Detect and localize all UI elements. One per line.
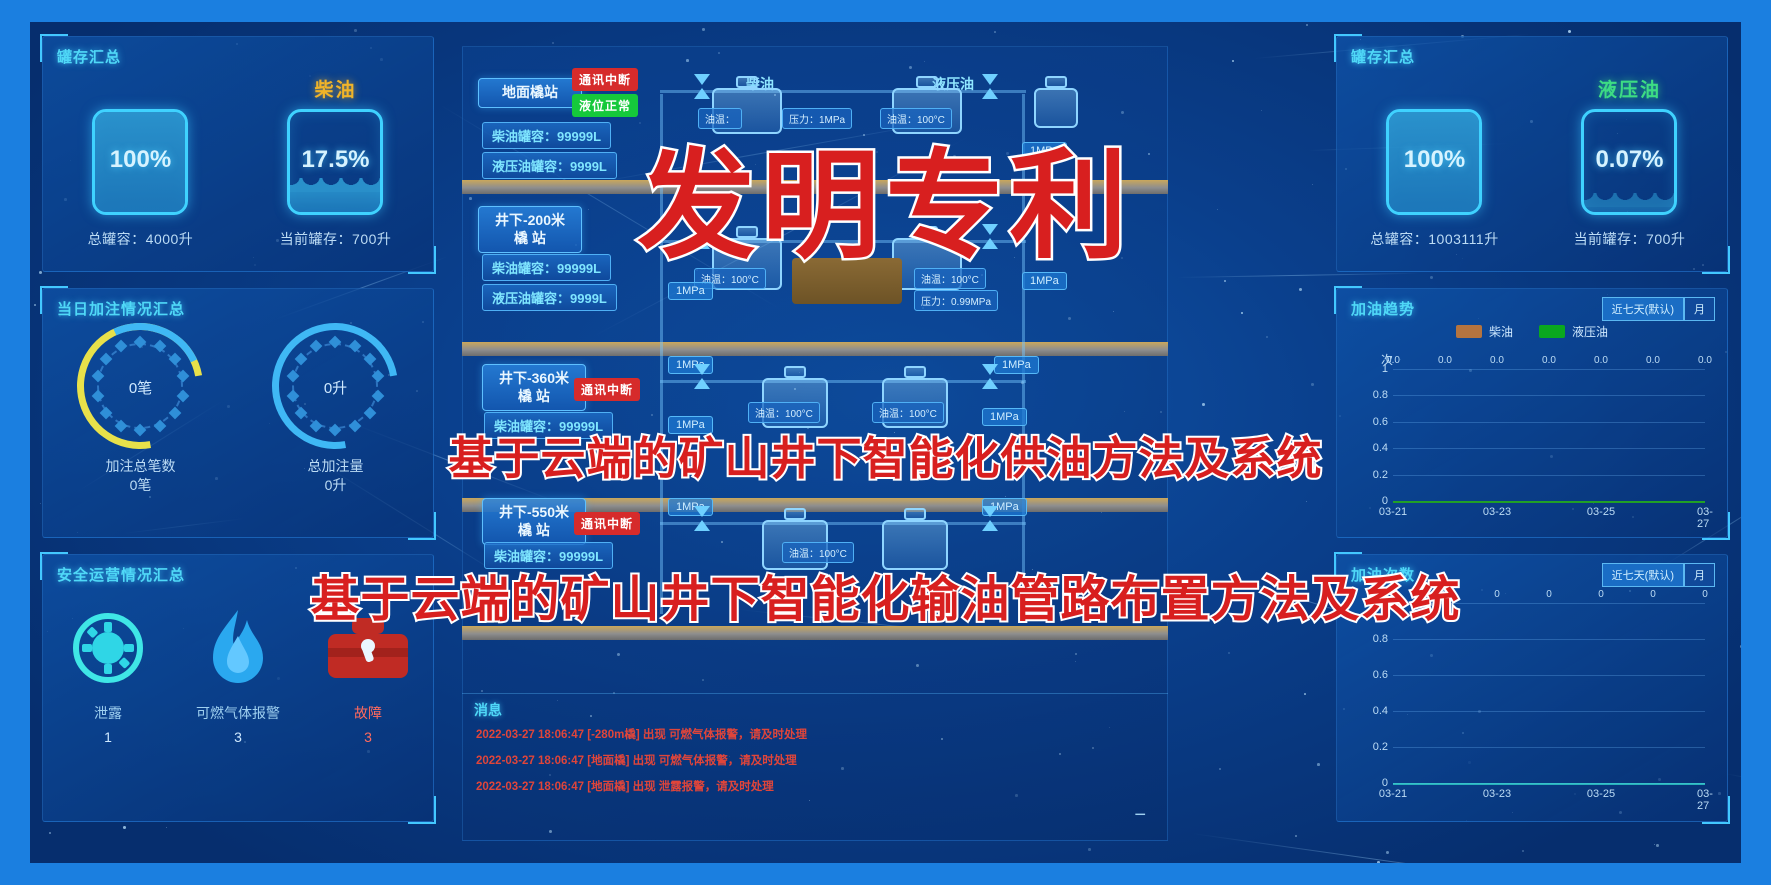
tank-gauge-current: 柴油 17.5% 当前罐存：700升 bbox=[246, 75, 425, 249]
panel-safety-summary: 安全运营情况汇总 bbox=[42, 554, 434, 822]
tank-capacity-tag: 液压油罐容：9999L bbox=[482, 152, 617, 179]
x-axis-tick: 03-23 bbox=[1483, 506, 1511, 518]
data-point-label: 0.0 bbox=[1646, 355, 1660, 366]
tank-gauge-row: · 100% 总罐容：1003111升 液压油 0.07% 当前罐存：700升 bbox=[1337, 75, 1727, 249]
toolbox-icon bbox=[310, 605, 427, 691]
station-label-surface[interactable]: 地面橇站 bbox=[478, 78, 582, 108]
data-point-label: 0.0 bbox=[1594, 355, 1608, 366]
legend-item-hydraulic: 液压油 bbox=[1539, 323, 1608, 340]
flame-icon bbox=[180, 605, 297, 691]
legend-swatch bbox=[1456, 325, 1482, 338]
y-axis-tick: 0.4 bbox=[1373, 705, 1388, 717]
strata-band bbox=[462, 180, 1168, 194]
panel-tank-summary-hydraulic: 罐存汇总 · 100% 总罐容：1003111升 液压油 0.07% 当前罐存：… bbox=[1336, 36, 1728, 272]
safety-item-row: 泄露 1 可燃气体报警 3 bbox=[43, 595, 433, 745]
tank-capacity-tag: 柴油罐容：99999L bbox=[482, 122, 611, 149]
x-axis-tick: 03-21 bbox=[1379, 788, 1407, 800]
data-point-label: 0.0 bbox=[1698, 355, 1712, 366]
legend-swatch bbox=[1539, 325, 1565, 338]
y-axis-tick: 0.2 bbox=[1373, 469, 1388, 481]
data-point-label: 0.0 bbox=[1438, 355, 1452, 366]
tank-capacity-tag: 柴油罐容：99999L bbox=[482, 254, 611, 281]
panel-tank-summary-diesel: 罐存汇总 · 100% 总罐容：4000升 柴油 17.5% 当前罐存：700升 bbox=[42, 36, 434, 272]
tank-caption: 当前罐存：700升 bbox=[1540, 229, 1719, 249]
legend-item-diesel: 柴油 bbox=[1456, 323, 1513, 340]
dashboard-screen: 罐存汇总 · 100% 总罐容：4000升 柴油 17.5% 当前罐存：700升 bbox=[30, 22, 1741, 863]
ring-label: 总加注量 0升 bbox=[246, 457, 425, 495]
tank-gauge-total: · 100% 总罐容：4000升 bbox=[51, 75, 230, 249]
panel-title: 罐存汇总 bbox=[1351, 46, 1415, 67]
tank-capacity-tag: 柴油罐容：99999L bbox=[484, 412, 613, 439]
chart-series-line bbox=[1393, 783, 1705, 785]
tank-capacity-tag: 柴油罐容：99999L bbox=[484, 542, 613, 569]
y-axis-tick: 0.8 bbox=[1373, 389, 1388, 401]
message-panel: 消息 2022-03-27 18:06:47 [-280m橇] 出现 可燃气体报… bbox=[462, 693, 1168, 841]
tank-caption: 总罐容：1003111升 bbox=[1345, 229, 1524, 249]
tank-gauge-row: · 100% 总罐容：4000升 柴油 17.5% 当前罐存：700升 bbox=[43, 75, 433, 249]
y-axis-tick: 0.6 bbox=[1373, 416, 1388, 428]
safety-label: 可燃气体报警 bbox=[180, 703, 297, 723]
tank-type-label: 柴油 bbox=[246, 75, 425, 99]
trend-range-buttons[interactable]: 近七天(默认) 月 bbox=[1602, 297, 1715, 321]
x-axis-tick: 03-21 bbox=[1379, 506, 1407, 518]
data-point-label: 0 bbox=[1598, 589, 1604, 600]
y-axis-tick: 0.6 bbox=[1373, 669, 1388, 681]
message-row: 2022-03-27 18:06:47 [地面橇] 出现 泄露报警，请及时处理 bbox=[476, 778, 774, 794]
zoom-out-button[interactable]: − bbox=[1134, 804, 1146, 827]
status-badge-comm: 通讯中断 bbox=[572, 68, 638, 91]
ring-visual: 0升 bbox=[272, 323, 398, 449]
panel-title: 加油趋势 bbox=[1351, 298, 1415, 319]
center-schematic[interactable]: 地面橇站 通讯中断 液位正常 柴油罐容：99999L 液压油罐容：9999L 井… bbox=[462, 46, 1168, 841]
tank-percent: 17.5% bbox=[290, 146, 380, 174]
message-panel-title: 消息 bbox=[474, 700, 502, 720]
chart-plot-trend: 00.20.40.60.8103-210.00.003-230.00.003-2… bbox=[1393, 369, 1705, 501]
range-button-week[interactable]: 近七天(默认) bbox=[1602, 563, 1684, 587]
safety-label: 故障 bbox=[310, 703, 427, 723]
data-point-label: 0.0 bbox=[1386, 355, 1400, 366]
station-label-360m[interactable]: 井下-360米 橇 站 bbox=[482, 364, 586, 411]
panel-daily-refuel-summary: 当日加注情况汇总 0笔 加注总笔数 0笔 bbox=[42, 288, 434, 538]
tank-percent: 100% bbox=[95, 146, 185, 174]
station-label-550m[interactable]: 井下-550米 橇 站 bbox=[482, 498, 586, 545]
tank-visual: 100% bbox=[92, 109, 188, 215]
data-point-label: 0.0 bbox=[1490, 355, 1504, 366]
leak-gear-icon bbox=[50, 605, 167, 691]
safety-value: 1 bbox=[50, 729, 167, 745]
tank-capacity-tag: 液压油罐容：9999L bbox=[482, 284, 617, 311]
count-range-buttons[interactable]: 近七天(默认) 月 bbox=[1602, 563, 1715, 587]
tank-gauge-total: · 100% 总罐容：1003111升 bbox=[1345, 75, 1524, 249]
panel-title: 安全运营情况汇总 bbox=[57, 564, 185, 585]
data-point-label: 0 bbox=[1390, 589, 1396, 600]
panel-refuel-count: 加油次数 近七天(默认) 月 00.20.40.60.8103-210003-2… bbox=[1336, 554, 1728, 822]
tank-visual: 100% bbox=[1386, 109, 1482, 215]
ring-label-line1: 加注总笔数 bbox=[105, 458, 175, 474]
safety-item-fault: 故障 3 bbox=[310, 605, 427, 745]
status-badge-comm: 通讯中断 bbox=[574, 512, 640, 535]
chart-legend: 柴油 液压油 bbox=[1337, 323, 1727, 340]
data-point-label: 0 bbox=[1442, 589, 1448, 600]
chart-plot-count: 00.20.40.60.8103-210003-230003-250003-27… bbox=[1393, 603, 1705, 783]
ring-gauge-row: 0笔 加注总笔数 0笔 0升 总加注量 0升 bbox=[43, 323, 433, 495]
data-point-label: 0 bbox=[1546, 589, 1552, 600]
tank-percent: 0.07% bbox=[1584, 146, 1674, 174]
range-button-month[interactable]: 月 bbox=[1684, 297, 1715, 321]
ring-visual: 0笔 bbox=[77, 323, 203, 449]
panel-title: 罐存汇总 bbox=[57, 46, 121, 67]
y-axis-tick: 0.8 bbox=[1373, 633, 1388, 645]
range-button-week[interactable]: 近七天(默认) bbox=[1602, 297, 1684, 321]
tank-visual: 17.5% bbox=[287, 109, 383, 215]
data-point-label: 0.0 bbox=[1542, 355, 1556, 366]
strata-band bbox=[462, 626, 1168, 640]
tank-gauge-current: 液压油 0.07% 当前罐存：700升 bbox=[1540, 75, 1719, 249]
ring-gauge-count: 0笔 加注总笔数 0笔 bbox=[51, 323, 230, 495]
ring-label-line2: 0笔 bbox=[130, 477, 152, 493]
x-axis-tick: 03-25 bbox=[1587, 506, 1615, 518]
tank-type-label: 液压油 bbox=[1540, 75, 1719, 99]
message-row: 2022-03-27 18:06:47 [-280m橇] 出现 可燃气体报警，请… bbox=[476, 726, 807, 742]
safety-value: 3 bbox=[310, 729, 427, 745]
outer-frame: 罐存汇总 · 100% 总罐容：4000升 柴油 17.5% 当前罐存：700升 bbox=[0, 0, 1771, 885]
ring-label-line1: 总加注量 bbox=[307, 458, 363, 474]
tank-caption: 总罐容：4000升 bbox=[51, 229, 230, 249]
tank-percent: 100% bbox=[1389, 146, 1479, 174]
safety-item-leak: 泄露 1 bbox=[50, 605, 167, 745]
panel-title: 当日加注情况汇总 bbox=[57, 298, 185, 319]
legend-label: 液压油 bbox=[1572, 323, 1608, 340]
safety-item-gas-alarm: 可燃气体报警 3 bbox=[180, 605, 297, 745]
ring-label-line2: 0升 bbox=[325, 477, 347, 493]
safety-label: 泄露 bbox=[50, 703, 167, 723]
data-point-label: 0 bbox=[1702, 589, 1708, 600]
message-row: 2022-03-27 18:06:47 [地面橇] 出现 可燃气体报警，请及时处… bbox=[476, 752, 797, 768]
data-point-label: 0 bbox=[1494, 589, 1500, 600]
tank-caption: 当前罐存：700升 bbox=[246, 229, 425, 249]
strata-band bbox=[462, 342, 1168, 356]
x-axis-tick: 03-25 bbox=[1587, 788, 1615, 800]
x-axis-tick: 03-23 bbox=[1483, 788, 1511, 800]
y-axis-tick: 1 bbox=[1382, 597, 1388, 609]
legend-label: 柴油 bbox=[1489, 323, 1513, 340]
status-badge-level: 液位正常 bbox=[572, 94, 638, 117]
chart-series-line bbox=[1393, 501, 1705, 503]
station-label-200m[interactable]: 井下-200米 橇 站 bbox=[478, 206, 582, 253]
y-axis-tick: 0.4 bbox=[1373, 442, 1388, 454]
panel-refuel-trend: 加油趋势 近七天(默认) 月 柴油 液压油 次 00.20.40.60.8103… bbox=[1336, 288, 1728, 538]
range-button-month[interactable]: 月 bbox=[1684, 563, 1715, 587]
panel-title: 加油次数 bbox=[1351, 564, 1415, 585]
y-axis-tick: 0.2 bbox=[1373, 741, 1388, 753]
x-axis-tick: 03-27 bbox=[1697, 506, 1713, 530]
tank-visual: 0.07% bbox=[1581, 109, 1677, 215]
ring-value: 0笔 bbox=[77, 377, 203, 398]
ring-value: 0升 bbox=[272, 377, 398, 398]
ring-label: 加注总笔数 0笔 bbox=[51, 457, 230, 495]
status-badge-comm: 通讯中断 bbox=[574, 378, 640, 401]
data-point-label: 0 bbox=[1650, 589, 1656, 600]
x-axis-tick: 03-27 bbox=[1697, 788, 1713, 812]
safety-value: 3 bbox=[180, 729, 297, 745]
ring-gauge-volume: 0升 总加注量 0升 bbox=[246, 323, 425, 495]
